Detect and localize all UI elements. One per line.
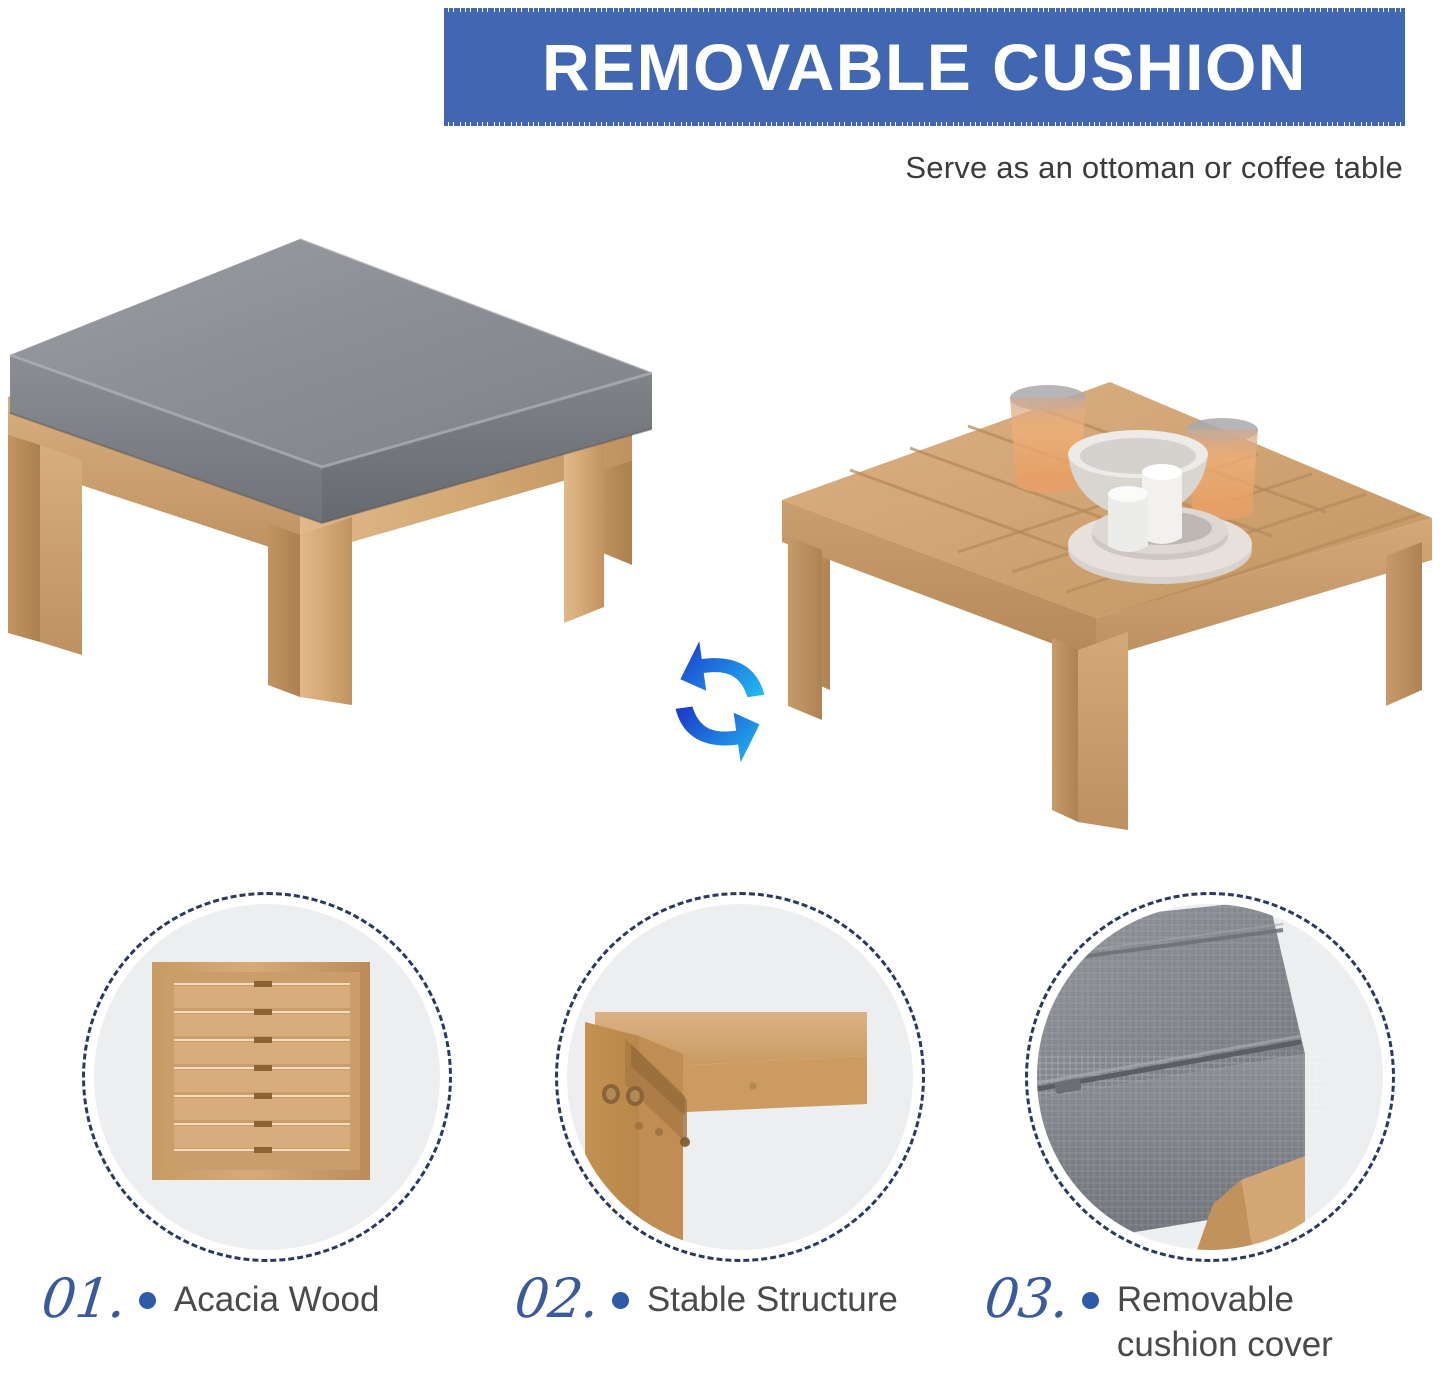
header-subtitle: Serve as an ottoman or coffee table xyxy=(905,150,1403,186)
feature-number-1: 01. xyxy=(39,1272,128,1326)
feature-number-2: 02. xyxy=(512,1272,601,1326)
title-banner: REMOVABLE CUSHION xyxy=(444,8,1405,126)
feature-circle-border-1 xyxy=(82,892,452,1262)
feature-circle-1 xyxy=(82,892,452,1262)
feature-text-3-line1: Removable xyxy=(1117,1280,1294,1319)
page-title: REMOVABLE CUSHION xyxy=(542,34,1307,100)
bullet-icon-3 xyxy=(1082,1292,1099,1309)
feature-card-removable-cover: 03. Removable cushion cover xyxy=(975,880,1445,1387)
feature-card-stable-structure: 02. Stable Structure xyxy=(505,880,975,1387)
feature-label-1: 01. Acacia Wood xyxy=(42,1272,502,1326)
feature-label-3: 03. Removable cushion cover xyxy=(985,1272,1445,1368)
feature-text-1: Acacia Wood xyxy=(174,1272,380,1323)
feature-circle-3 xyxy=(1025,892,1395,1262)
feature-text-3: Removable cushion cover xyxy=(1117,1272,1333,1368)
table-leg-right xyxy=(1386,542,1422,706)
ottoman-leg-front-left xyxy=(8,435,82,655)
ottoman-leg-front-right xyxy=(564,427,604,623)
feature-circle-border-3 xyxy=(1025,892,1395,1262)
feature-circle-2 xyxy=(555,892,925,1262)
features-row: 01. Acacia Wood xyxy=(0,880,1445,1387)
feature-label-2: 02. Stable Structure xyxy=(515,1272,975,1326)
feature-circle-border-2 xyxy=(555,892,925,1262)
coffee-table-product-image xyxy=(760,360,1445,850)
feature-text-3-line2: cushion cover xyxy=(1117,1325,1333,1364)
table-leg-center xyxy=(1078,632,1128,830)
ottoman-product-image xyxy=(0,205,680,705)
ottoman-leg-front-center xyxy=(268,517,352,705)
feature-card-acacia-wood: 01. Acacia Wood xyxy=(32,880,502,1387)
feature-number-3: 03. xyxy=(982,1272,1071,1326)
table-leg-left xyxy=(788,536,822,720)
product-showcase-row xyxy=(0,195,1445,855)
bullet-icon-2 xyxy=(612,1292,629,1309)
feature-text-2: Stable Structure xyxy=(647,1272,898,1323)
header: REMOVABLE CUSHION Serve as an ottoman or… xyxy=(0,0,1445,205)
bullet-icon-1 xyxy=(139,1292,156,1309)
